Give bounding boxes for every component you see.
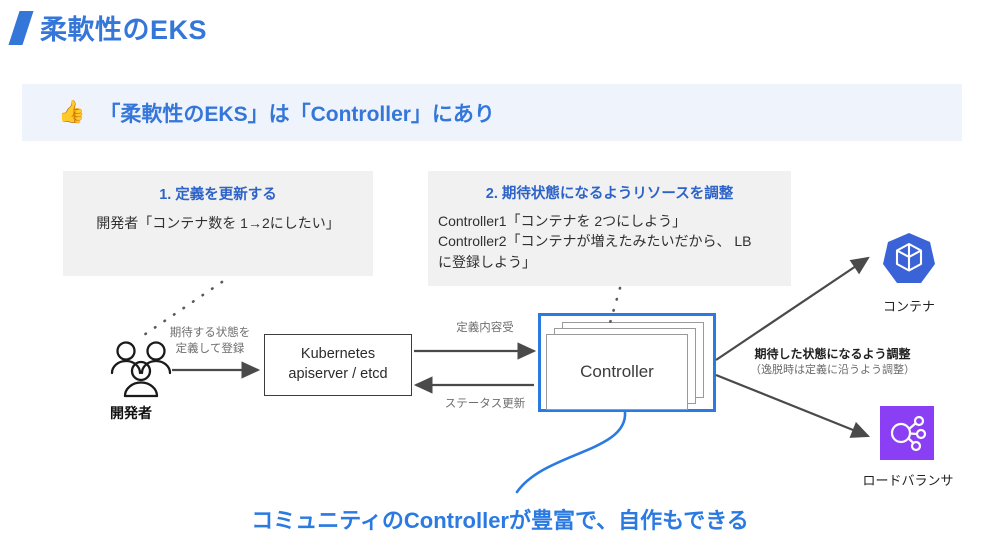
arrow-label-to-controller: 定義内容受 [430,321,540,337]
annotation-body: Controller1「コンテナを 2つにしよう」 Controller2「コン… [438,211,785,272]
bottom-message: コミュニティのControllerが豊富で、自作もできる [0,503,1000,535]
page-title: 柔軟性のEKS [14,8,207,47]
load-balancer-icon [880,406,934,460]
adjust-note: 期待した状態になるよう調整 （逸脱時は定義に沿うよう調整） [740,346,925,378]
apiserver-label-line1: Kubernetes [288,345,387,365]
thumbs-up-icon: 👍 [58,102,85,124]
callout-banner: 👍 「柔軟性のEKS」は「Controller」にあり [22,84,962,141]
adjust-note-line2: （逸脱時は定義に沿うよう調整） [740,363,925,378]
apiserver-label: Kubernetes apiserver / etcd [288,345,387,384]
developer-label: 開発者 [110,403,152,423]
controller-card-front: Controller [546,334,688,410]
curve-controller-to-bottom-message [517,412,625,492]
title-slash-icon [8,11,33,45]
slide-root: 柔軟性のEKS 👍 「柔軟性のEKS」は「Controller」にあり 1. 定… [0,0,1000,553]
annotation-body-line: に登録しよう」 [438,252,785,272]
register-note-line1: 期待する状態を [160,326,260,342]
annotation-box-step-1: 1. 定義を更新する 開発者「コンテナ数を 1→2にしたい」 [63,171,373,276]
arrow-label-from-controller: ステータス更新 [425,397,545,413]
annotation-title: 1. 定義を更新する [63,183,373,204]
arrow-controller-to-load-balancer [716,375,868,436]
annotation-box-step-2: 2. 期待状態になるようリソースを調整 Controller1「コンテナを 2つ… [428,171,791,286]
register-note-line2: 定義して登録 [160,342,260,358]
register-note: 期待する状態を 定義して登録 [160,326,260,357]
controller-label: Controller [580,362,654,382]
annotation-body: 開発者「コンテナ数を 1→2にしたい」 [63,213,373,233]
title-text: 柔軟性のEKS [40,8,207,47]
kubernetes-pod-icon [880,231,938,289]
kubernetes-apiserver-node: Kubernetes apiserver / etcd [264,334,412,396]
pod-node-label: コンテナ [865,296,953,315]
load-balancer-node-label: ロードバランサ [843,470,973,489]
annotation-body-line: Controller2「コンテナが増えたみたいだから、 LB [438,231,785,251]
annotation-body-line: Controller1「コンテナを 2つにしよう」 [438,211,785,231]
callout-text: 「柔軟性のEKS」は「Controller」にあり [99,98,495,128]
adjust-note-line1: 期待した状態になるよう調整 [740,346,925,363]
annotation-title: 2. 期待状態になるようリソースを調整 [428,182,791,203]
apiserver-label-line2: apiserver / etcd [288,365,387,385]
